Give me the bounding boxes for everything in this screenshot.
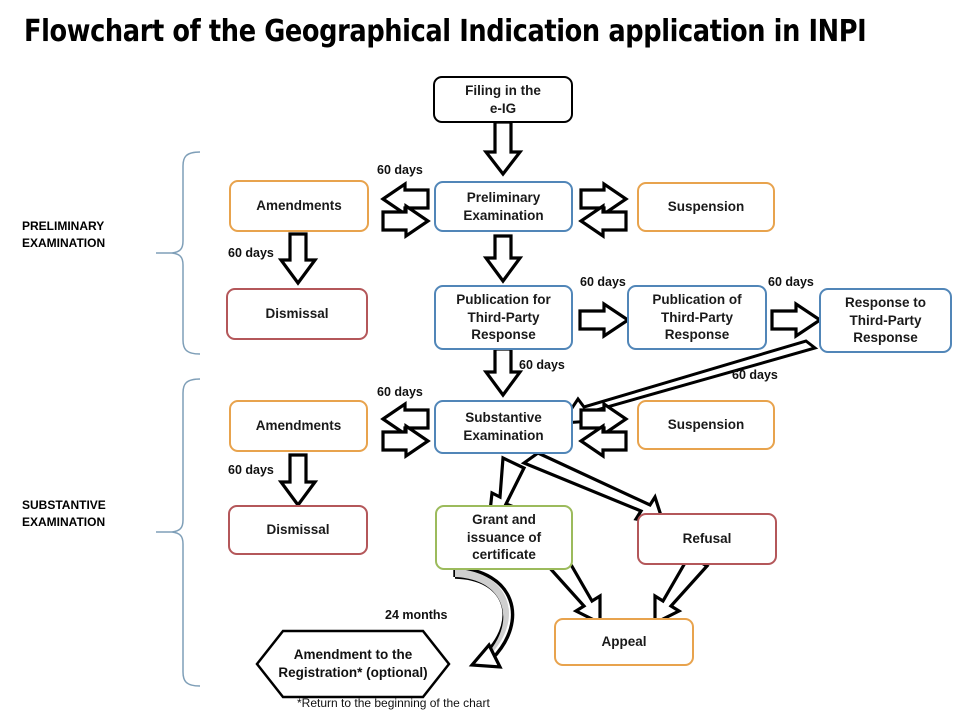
node-label-line: Amendment to the xyxy=(294,647,413,662)
node-label-line: Response xyxy=(652,326,741,344)
node-publication-of-third-party-response[interactable]: Publication of Third-Party Response xyxy=(627,285,767,350)
edge-label-grant-to-amendment-24-months: 24 months xyxy=(385,608,448,622)
arrow-preliminary-to-publication-for xyxy=(486,236,520,281)
node-label-line: Examination xyxy=(463,207,543,225)
group-label-preliminary-examination: PRELIMINARY EXAMINATION xyxy=(22,218,105,253)
edge-label-substantive-amendments-60-days: 60 days xyxy=(377,385,423,399)
node-label-line: Grant and xyxy=(467,511,541,529)
node-label-line: e-IG xyxy=(465,100,541,118)
node-response-to-third-party-response[interactable]: Response to Third-Party Response xyxy=(819,288,952,353)
node-label-line: Registration* xyxy=(278,665,362,680)
group-label-line: EXAMINATION xyxy=(22,514,106,531)
node-label-line: Filing in the xyxy=(465,82,541,100)
edge-label-publication-for-to-substantive-60-days: 60 days xyxy=(519,358,565,372)
node-appeal[interactable]: Appeal xyxy=(554,618,694,666)
node-publication-for-third-party-response[interactable]: Publication for Third-Party Response xyxy=(434,285,573,350)
node-amendments-substantive[interactable]: Amendments xyxy=(229,400,368,452)
arrow-amendments-to-substantive xyxy=(383,426,428,456)
edge-label-preliminary-dismissal-60-days: 60 days xyxy=(228,246,274,260)
node-label-line: Third-Party xyxy=(845,312,926,330)
arrow-publication-for-to-substantive xyxy=(486,349,520,395)
node-label-line: Response xyxy=(456,326,551,344)
node-substantive-examination[interactable]: Substantive Examination xyxy=(434,400,573,454)
node-dismissal-preliminary[interactable]: Dismissal xyxy=(226,288,368,340)
node-label-line: Suspension xyxy=(668,416,745,434)
node-label-line: Third-Party xyxy=(652,309,741,327)
node-label-line: Appeal xyxy=(601,633,646,651)
node-label-line: Examination xyxy=(463,427,543,445)
group-label-line: SUBSTANTIVE xyxy=(22,497,106,514)
arrow-amendments-to-preliminary xyxy=(383,206,428,236)
node-label-line: Preliminary xyxy=(463,189,543,207)
node-label-line: Third-Party xyxy=(456,309,551,327)
node-label-line: Amendments xyxy=(256,197,342,215)
brace-preliminary-examination xyxy=(172,152,200,354)
footnote-return-to-beginning: *Return to the beginning of the chart xyxy=(297,696,490,710)
node-label-line: Response xyxy=(845,329,926,347)
arrow-amendments-to-dismissal-lower xyxy=(281,455,315,505)
node-label-line: Dismissal xyxy=(266,521,329,539)
arrow-grant-to-amendment-registration xyxy=(455,568,513,667)
arrow-amendments-to-dismissal xyxy=(281,234,315,283)
node-amendments-preliminary[interactable]: Amendments xyxy=(229,180,369,232)
node-label-line: Dismissal xyxy=(265,305,328,323)
node-label-line: Suspension xyxy=(668,198,745,216)
node-label-line: (optional) xyxy=(366,665,427,680)
node-label-line: Publication for xyxy=(456,291,551,309)
node-suspension-substantive[interactable]: Suspension xyxy=(637,400,775,450)
node-label-line: Refusal xyxy=(683,530,732,548)
node-dismissal-substantive[interactable]: Dismissal xyxy=(228,505,368,555)
edge-label-publication-for-to-of-60-days: 60 days xyxy=(580,275,626,289)
node-refusal[interactable]: Refusal xyxy=(637,513,777,565)
edge-label-publication-of-to-response-60-days: 60 days xyxy=(768,275,814,289)
group-label-substantive-examination: SUBSTANTIVE EXAMINATION xyxy=(22,497,106,532)
flowchart-canvas: Flowchart of the Geographical Indication… xyxy=(0,0,960,720)
edge-label-response-to-substantive-60-days: 60 days xyxy=(732,368,778,382)
node-label-line: Substantive xyxy=(463,409,543,427)
arrow-filing-to-preliminary xyxy=(486,122,520,174)
arrow-publication-of-to-response xyxy=(772,304,820,336)
edge-label-substantive-dismissal-60-days: 60 days xyxy=(228,463,274,477)
arrow-suspension-to-preliminary xyxy=(581,206,626,236)
node-label-line: issuance of xyxy=(467,529,541,547)
node-amendment-to-the-registration[interactable]: Amendment to the Registration* (optional… xyxy=(257,631,449,697)
arrow-publication-for-to-publication-of xyxy=(580,304,628,336)
node-label-line: Amendments xyxy=(256,417,342,435)
node-label-line: Response to xyxy=(845,294,926,312)
node-label-line: Publication of xyxy=(652,291,741,309)
edge-label-preliminary-amendments-60-days: 60 days xyxy=(377,163,423,177)
group-label-line: EXAMINATION xyxy=(22,235,105,252)
group-label-line: PRELIMINARY xyxy=(22,218,105,235)
node-label-line: certificate xyxy=(467,546,541,564)
arrow-refusal-to-appeal xyxy=(655,556,707,623)
node-filing-in-the-e-ig[interactable]: Filing in the e-IG xyxy=(433,76,573,123)
node-suspension-preliminary[interactable]: Suspension xyxy=(637,182,775,232)
brace-substantive-examination xyxy=(172,379,200,686)
arrow-suspension-to-substantive xyxy=(581,426,626,456)
node-grant-and-issuance-of-certificate[interactable]: Grant and issuance of certificate xyxy=(435,505,573,570)
node-preliminary-examination[interactable]: Preliminary Examination xyxy=(434,181,573,232)
